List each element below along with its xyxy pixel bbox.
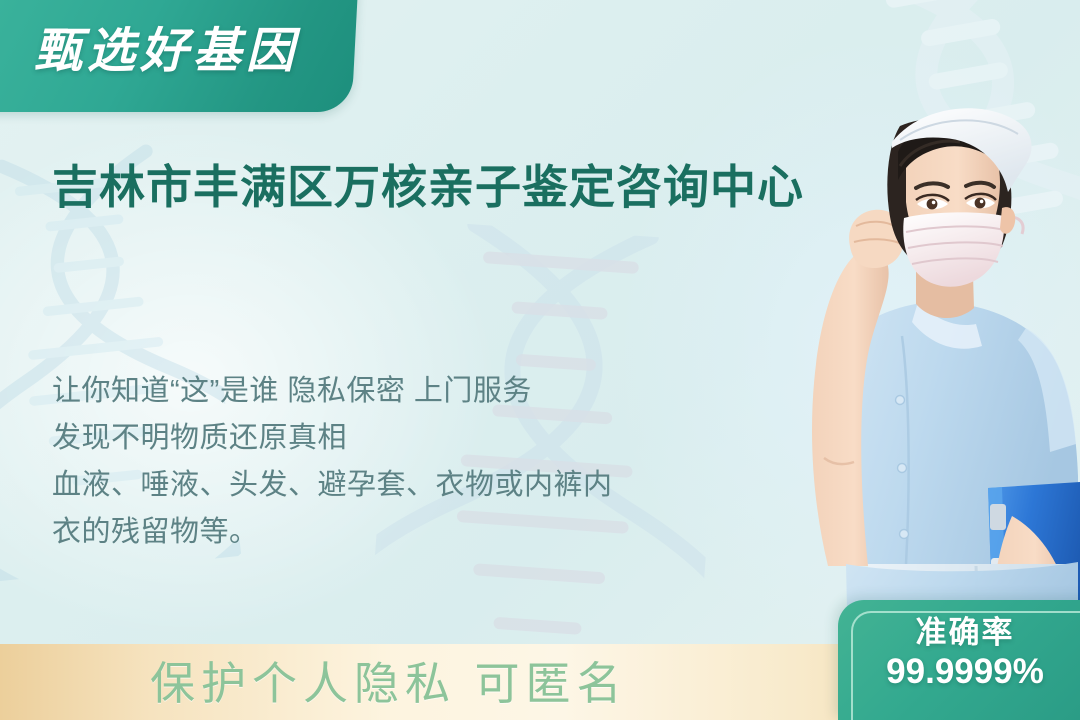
brand-banner-text: 甄选好基因: [34, 11, 317, 81]
background-glow-right: [620, 40, 1080, 660]
description-block: 让你知道“这”是谁 隐私保密 上门服务 发现不明物质还原真相 血液、唾液、头发、…: [52, 368, 742, 556]
brand-banner: 甄选好基因: [0, 0, 358, 112]
accuracy-badge: 准确率 99.9999%: [838, 600, 1080, 720]
promo-poster: 甄选好基因 吉林市丰满区万核亲子鉴定咨询中心 让你知道“这”是谁 隐私保密 上门…: [0, 0, 1080, 720]
description-line-2: 发现不明物质还原真相: [52, 415, 742, 462]
footer-slogan: 保护个人隐私 可匿名: [150, 647, 628, 712]
description-line-3: 血液、唾液、头发、避孕套、衣物或内裤内: [52, 462, 742, 509]
dna-helix-watermark-right: [812, 0, 1080, 380]
description-line-1: 让你知道“这”是谁 隐私保密 上门服务: [52, 368, 742, 415]
accuracy-value: 99.9999%: [838, 651, 1080, 692]
accuracy-badge-content: 准确率 99.9999%: [838, 616, 1080, 692]
accuracy-label: 准确率: [838, 616, 1080, 651]
page-title: 吉林市丰满区万核亲子鉴定咨询中心: [52, 158, 852, 218]
description-line-4: 衣的残留物等。: [52, 509, 742, 556]
